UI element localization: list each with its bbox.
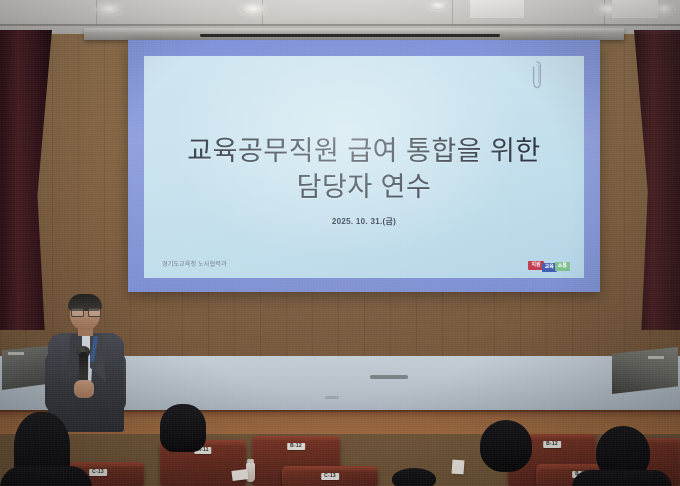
seat-plate: C-13 <box>321 473 339 480</box>
attendee-head <box>392 468 436 486</box>
ceiling-seam <box>0 24 680 26</box>
ceiling-panel-line <box>96 0 97 26</box>
attendee-head <box>160 404 206 452</box>
ceiling-downlight <box>96 4 122 15</box>
slide-title: 교육공무직원 급여 통합을 위한 담당자 연수 <box>144 134 584 206</box>
slide-date: 2025. 10. 31.(금) <box>144 216 584 227</box>
seat: C-13 <box>282 466 378 486</box>
presenter <box>44 296 128 432</box>
speaker-badge <box>648 356 664 359</box>
paper-handout <box>452 460 465 475</box>
slide-title-line1: 교육공무직원 급여 통합을 위한 <box>144 134 584 170</box>
slide-footer-organization: 경기도교육청 노사협력과 <box>162 259 227 268</box>
stage-floor-marking <box>325 396 339 399</box>
speaker-badge <box>8 352 24 355</box>
presenter-hand <box>74 380 94 398</box>
screen-roller-slot <box>200 34 500 37</box>
stage-monitor-speaker-right <box>612 346 678 394</box>
bottle-cap <box>247 459 254 463</box>
attendee-head <box>480 420 532 472</box>
projection-screen-frame: 교육공무직원 급여 통합을 위한 담당자 연수 2025. 10. 31.(금)… <box>128 40 600 292</box>
attendee-shoulders <box>0 466 92 486</box>
organization-logo: 지원 교육 소통 <box>528 259 570 272</box>
seat-plate: B-12 <box>543 441 561 448</box>
slide-title-line2: 담당자 연수 <box>144 170 584 206</box>
ceiling-panel-line <box>452 0 453 26</box>
stage-floor-marking <box>370 375 408 379</box>
glasses-icon <box>71 308 99 315</box>
auditorium-photo: 교육공무직원 급여 통합을 위한 담당자 연수 2025. 10. 31.(금)… <box>0 0 680 486</box>
ceiling-downlight <box>428 2 448 10</box>
seat-plate: B-12 <box>287 443 305 450</box>
ceiling-skylight <box>470 0 524 18</box>
attendee-shoulders <box>572 470 672 486</box>
paper-handout <box>231 469 248 481</box>
seat-plate: C-13 <box>89 469 107 476</box>
projected-slide: 교육공무직원 급여 통합을 위한 담당자 연수 2025. 10. 31.(금)… <box>144 56 584 278</box>
ceiling-skylight <box>612 0 658 18</box>
paperclip-icon <box>532 60 542 90</box>
seat-top <box>282 466 378 471</box>
ceiling-downlight <box>240 4 266 15</box>
seat-top <box>252 436 340 441</box>
logo-block-3: 소통 <box>555 262 570 271</box>
